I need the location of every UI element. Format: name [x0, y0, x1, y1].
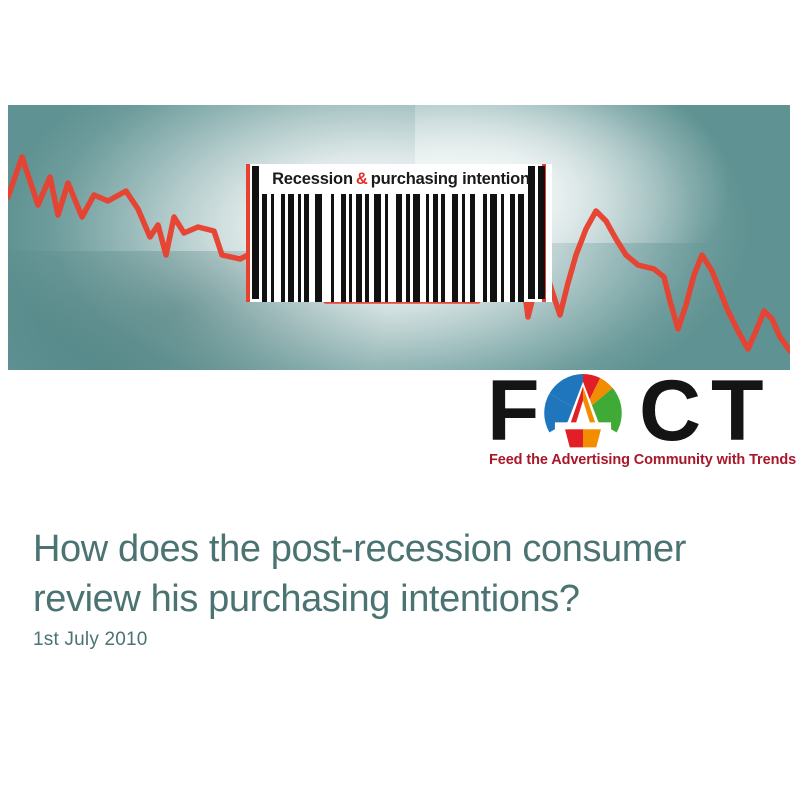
barcode-graphic: Recession & purchasing intention: [242, 164, 558, 302]
barcode-bar-stripes: [262, 194, 526, 302]
logo-letter-t: T: [711, 370, 761, 452]
barcode-caption-prefix: Recession: [272, 170, 353, 189]
presentation-date: 1st July 2010: [33, 627, 148, 653]
hero-banner-image: Recession & purchasing intention: [8, 105, 790, 370]
barcode-caption-suffix: purchasing intention: [371, 170, 530, 189]
barcode-caption: Recession & purchasing intention: [256, 166, 546, 192]
barcode-left-red-rule: [246, 164, 250, 302]
title-slide: Recession & purchasing intention: [0, 0, 800, 800]
logo-letter-f: F: [487, 370, 537, 452]
logo-tagline: Feed the Advertising Community with Tren…: [489, 452, 789, 468]
page-title-line-2: review his purchasing intentions?: [33, 574, 763, 624]
logo-letter-c: C: [639, 370, 698, 452]
fact-logo: F: [487, 370, 789, 478]
logo-letter-a-circle-icon: [544, 374, 622, 452]
fact-wordmark: F: [487, 370, 789, 452]
page-title-line-1: How does the post-recession consumer: [33, 524, 763, 574]
barcode-caption-ampersand: &: [353, 170, 371, 189]
page-title: How does the post-recession consumer rev…: [33, 524, 763, 624]
